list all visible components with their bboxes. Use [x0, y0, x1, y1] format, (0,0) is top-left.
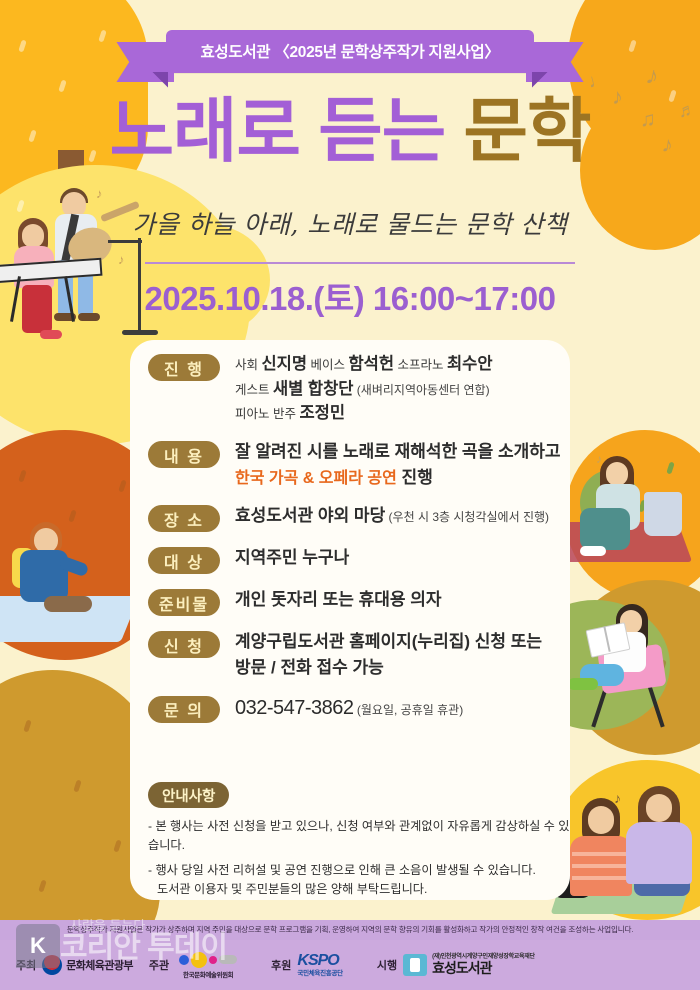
- info-row-line: 개인 돗자리 또는 휴대용 의자: [235, 587, 442, 613]
- info-row-list: 진 행사회 신지명 베이스 함석헌 소프라노 최수안게스트 새별 합창단 (새벼…: [148, 352, 568, 736]
- info-text-segment: 새별 합창단: [273, 380, 353, 398]
- info-row: 대 상지역주민 누구나: [148, 545, 568, 574]
- manage-label: 주관: [149, 957, 169, 973]
- manage-name: 한국문화예술위원회: [183, 969, 233, 979]
- info-text-segment: 잘 알려진 시를 노래로 재해석한 곡을 소개하고: [235, 442, 561, 461]
- poster-root: 효성도서관 〈2025년 문학상주작가 지원사업〉 노래로 듣는 문학 ♩ ♪ …: [0, 0, 700, 990]
- info-row-content: 지역주민 누구나: [235, 545, 349, 571]
- support-name: KSPO: [297, 953, 342, 969]
- info-row: 문 의032-547-3862 (월요일, 공휴일 휴관): [148, 694, 568, 724]
- poster-subtitle: 가을 하늘 아래, 노래로 물드는 문학 산책: [0, 205, 700, 241]
- watermark-badge: K: [16, 924, 60, 968]
- info-text-segment: (새벼리지역아동센터 연합): [353, 383, 489, 397]
- info-row-line: 피아노 반주 조정민: [235, 401, 493, 426]
- info-row-line: 효성도서관 야외 마당 (우천 시 3층 시청각실에서 진행): [235, 503, 549, 529]
- library-book-icon: [403, 954, 427, 976]
- info-text-segment: 개인 돗자리 또는 휴대용 의자: [235, 590, 442, 609]
- info-row-label: 대 상: [148, 547, 220, 574]
- info-row-line: 사회 신지명 베이스 함석헌 소프라노 최수안: [235, 352, 493, 377]
- info-text-segment: 032-547-3862: [235, 697, 354, 719]
- info-text-segment: 사회: [235, 358, 261, 372]
- ribbon-text: 효성도서관 〈2025년 문학상주작가 지원사업〉: [200, 44, 499, 61]
- info-text-segment: 효성도서관 야외 마당: [235, 506, 385, 525]
- hyoseong-logo-icon: (재)인천광역시계양구인재양성장학교육재단 효성도서관: [403, 954, 535, 976]
- info-row-label: 진 행: [148, 354, 220, 381]
- info-text-segment: 지역주민 누구나: [235, 548, 349, 567]
- footer-logo-bar: 주최 문화체육관광부 주관 한국문화예술위원회 후원 KSPO 국민체육진흥공단…: [0, 940, 700, 990]
- info-row: 준비물개인 돗자리 또는 휴대용 의자: [148, 587, 568, 616]
- title-part-2: 문학: [464, 92, 591, 170]
- music-note-icon: ♪: [118, 252, 125, 267]
- notice-section: 안내사항 - 본 행사는 사전 신청을 받고 있으나, 신청 여부와 관계없이 …: [148, 782, 578, 905]
- info-text-segment: (월요일, 공휴일 휴관): [354, 703, 464, 717]
- arko-logo-icon: 한국문화예술위원회: [179, 952, 237, 979]
- operate-name: 효성도서관: [432, 961, 535, 976]
- music-note-icon: ♪: [596, 452, 602, 466]
- kspo-logo-icon: KSPO 국민체육진흥공단: [297, 953, 342, 978]
- info-text-segment: 함석헌: [348, 355, 394, 373]
- notice-item-subtext: 도서관 이용자 및 주민분들의 많은 양해 부탁드립니다.: [148, 880, 578, 899]
- notice-item-text: - 행사 당일 사전 리허설 및 공연 진행으로 인해 큰 소음이 발생될 수 …: [148, 863, 536, 877]
- page-title: 노래로 듣는 문학: [0, 95, 700, 169]
- info-row: 내 용잘 알려진 시를 노래로 재해석한 곡을 소개하고한국 가곡 & 오페라 …: [148, 439, 568, 490]
- info-row-line: 계양구립도서관 홈페이지(누리집) 신청 또는: [235, 629, 542, 655]
- info-row-label: 준비물: [148, 589, 220, 616]
- host-name: 문화체육관광부: [66, 957, 133, 973]
- info-row-content: 계양구립도서관 홈페이지(누리집) 신청 또는방문 / 전화 접수 가능: [235, 629, 542, 680]
- title-part-1: 노래로 듣는: [110, 92, 464, 170]
- notice-item: - 본 행사는 사전 신청을 받고 있으나, 신청 여부와 관계없이 자유롭게 …: [148, 817, 578, 855]
- info-row-line: 032-547-3862 (월요일, 공휴일 휴관): [235, 694, 463, 724]
- info-row-line: 한국 가곡 & 오페라 공연 진행: [235, 465, 561, 491]
- info-text-segment: 최수안: [447, 355, 493, 373]
- info-row-content: 032-547-3862 (월요일, 공휴일 휴관): [235, 694, 463, 724]
- info-row: 신 청계양구립도서관 홈페이지(누리집) 신청 또는방문 / 전화 접수 가능: [148, 629, 568, 680]
- info-text-segment: 게스트: [235, 383, 273, 397]
- title-divider: [145, 262, 575, 264]
- info-row-label: 장 소: [148, 505, 220, 532]
- info-text-segment: 진행: [397, 468, 433, 487]
- manage-logo-group: 주관 한국문화예술위원회: [149, 952, 237, 979]
- info-row-line: 방문 / 전화 접수 가능: [235, 655, 542, 681]
- info-row-line: 잘 알려진 시를 노래로 재해석한 곡을 소개하고: [235, 439, 561, 465]
- info-row-line: 지역주민 누구나: [235, 545, 349, 571]
- notice-badge: 안내사항: [148, 782, 229, 808]
- info-text-segment: 계양구립도서관 홈페이지(누리집) 신청 또는: [235, 632, 542, 651]
- info-text-segment: 신지명: [261, 355, 307, 373]
- ribbon-body: 효성도서관 〈2025년 문학상주작가 지원사업〉: [166, 30, 533, 73]
- info-row: 진 행사회 신지명 베이스 함석헌 소프라노 최수안게스트 새별 합창단 (새벼…: [148, 352, 568, 426]
- notice-item-text: - 본 행사는 사전 신청을 받고 있으나, 신청 여부와 관계없이 자유롭게 …: [148, 819, 569, 852]
- info-text-segment: 베이스: [307, 358, 348, 372]
- info-text-segment: 한국 가곡 & 오페라 공연: [235, 470, 397, 487]
- tree-right-olive-icon: [565, 580, 700, 755]
- info-row-content: 사회 신지명 베이스 함석헌 소프라노 최수안게스트 새별 합창단 (새벼리지역…: [235, 352, 493, 426]
- operate-logo-group: 시행 (재)인천광역시계양구인재양성장학교육재단 효성도서관: [377, 954, 535, 976]
- info-text-segment: 피아노 반주: [235, 407, 299, 421]
- info-row-label: 신 청: [148, 631, 220, 658]
- info-text-segment: (우천 시 3층 시청각실에서 진행): [385, 510, 549, 524]
- info-row-label: 내 용: [148, 441, 220, 468]
- info-row-content: 효성도서관 야외 마당 (우천 시 3층 시청각실에서 진행): [235, 503, 549, 529]
- info-text-segment: 조정민: [299, 404, 345, 422]
- info-text-segment: 소프라노: [394, 358, 447, 372]
- tree-right-green-small-icon: [580, 470, 640, 535]
- music-note-icon: ♪: [96, 186, 103, 201]
- support-logo-group: 후원 KSPO 국민체육진흥공단: [271, 953, 343, 978]
- music-note-icon: ♪: [614, 790, 621, 806]
- info-row-content: 개인 돗자리 또는 휴대용 의자: [235, 587, 442, 613]
- tree-right-orange-icon: [565, 430, 700, 600]
- info-row-line: 게스트 새별 합창단 (새벼리지역아동센터 연합): [235, 377, 493, 402]
- info-text-segment: 방문 / 전화 접수 가능: [235, 658, 384, 677]
- info-row-label: 문 의: [148, 696, 220, 723]
- arko-dots-icon: [179, 952, 237, 968]
- notice-item: - 행사 당일 사전 리허설 및 공연 진행으로 인해 큰 소음이 발생될 수 …: [148, 861, 578, 899]
- ribbon-banner: 효성도서관 〈2025년 문학상주작가 지원사업〉: [0, 30, 700, 73]
- event-datetime: 2025.10.18.(토) 16:00~17:00: [0, 272, 700, 320]
- notice-list: - 본 행사는 사전 신청을 받고 있으나, 신청 여부와 관계없이 자유롭게 …: [148, 817, 578, 899]
- info-row-content: 잘 알려진 시를 노래로 재해석한 곡을 소개하고한국 가곡 & 오페라 공연 …: [235, 439, 561, 490]
- support-sub: 국민체육진흥공단: [297, 971, 342, 978]
- footer-description: 문학상주작가 지원사업은 작가가 상주하며 지역 주민을 대상으로 문학 프로그…: [0, 920, 700, 940]
- support-label: 후원: [271, 957, 291, 973]
- operate-label: 시행: [377, 957, 397, 973]
- info-row: 장 소효성도서관 야외 마당 (우천 시 3층 시청각실에서 진행): [148, 503, 568, 532]
